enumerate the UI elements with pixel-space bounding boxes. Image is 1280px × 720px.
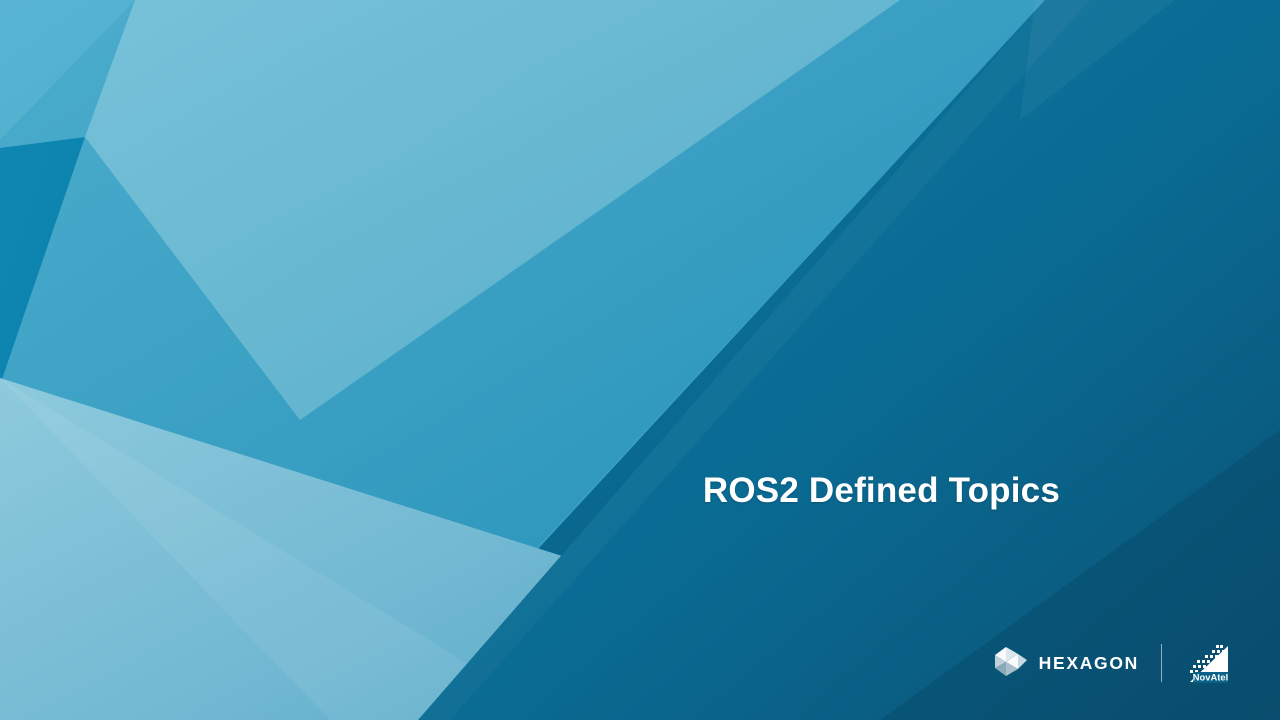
logo-divider bbox=[1161, 644, 1162, 682]
novatel-triangle-dots-icon: NovAtel bbox=[1184, 642, 1232, 684]
novatel-wordmark: NovAtel bbox=[1193, 672, 1228, 683]
presentation-slide: ROS2 Defined Topics HEXAGON bbox=[0, 0, 1280, 720]
hexagon-wordmark: HEXAGON bbox=[1039, 654, 1139, 673]
page-title: ROS2 Defined Topics bbox=[703, 470, 1060, 512]
hexagon-logo: HEXAGON bbox=[994, 644, 1139, 683]
hexagon-faceted-prism-icon bbox=[994, 644, 1028, 683]
novatel-logo: NovAtel bbox=[1184, 642, 1232, 684]
slide-background bbox=[0, 0, 1280, 720]
title-block: ROS2 Defined Topics bbox=[0, 470, 1060, 512]
footer-logo-bar: HEXAGON bbox=[994, 642, 1232, 684]
